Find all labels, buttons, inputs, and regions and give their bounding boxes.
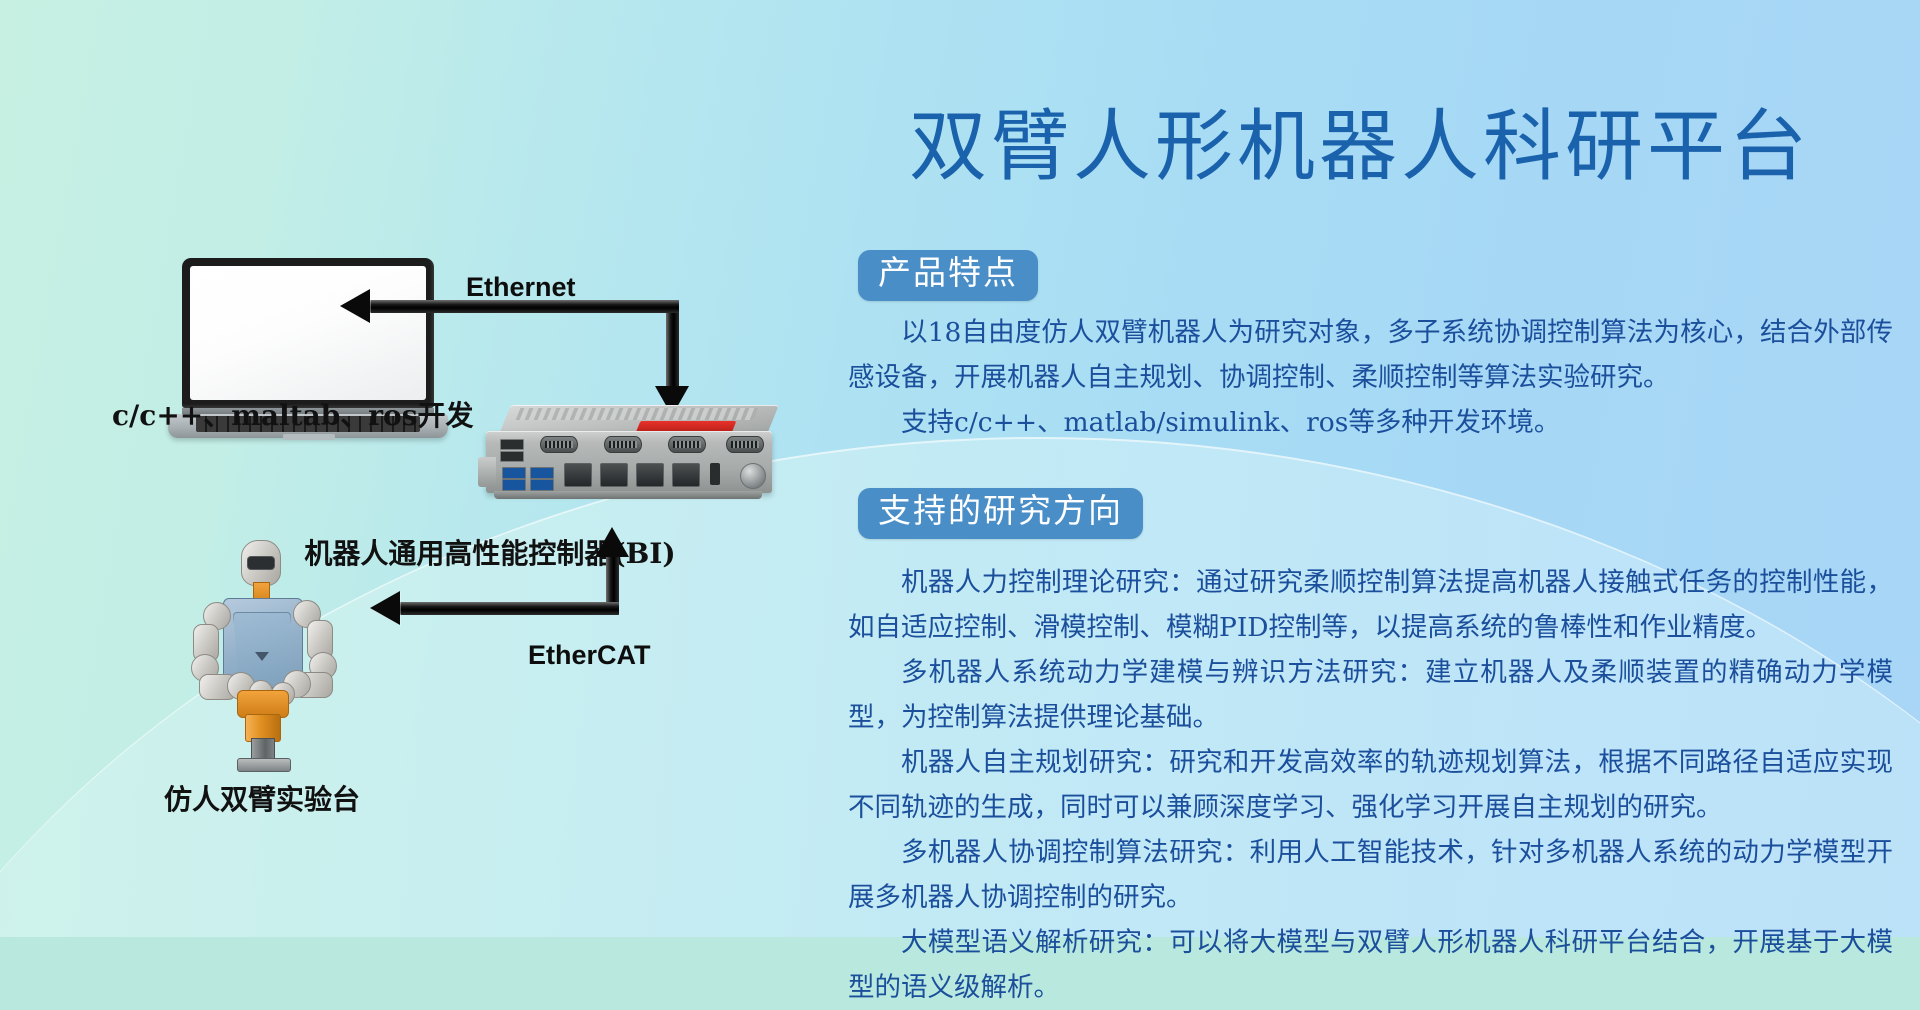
product-features-body: 以18自由度仿人双臂机器人为研究对象，多子系统协调控制算法为核心，结合外部传感设… — [848, 310, 1893, 445]
laptop-screen — [190, 266, 426, 400]
paragraph: 大模型语义解析研究：可以将大模型与双臂人形机器人科研平台结合，开展基于大模型的语… — [848, 920, 1893, 1010]
controller-ethernet-port — [564, 463, 592, 487]
paragraph: 多机器人协调控制算法研究：利用人工智能技术，针对多机器人系统的动力学模型开展多机… — [848, 830, 1893, 920]
section-badge-product-features: 产品特点 — [858, 250, 1038, 301]
controller-usb-port — [500, 439, 524, 450]
robot-visor — [247, 556, 275, 570]
controller-base — [494, 491, 762, 499]
laptop-trackpad — [283, 434, 335, 440]
system-diagram: c/c++、maltab、ros开发 Ethernet — [0, 0, 860, 937]
ethercat-label: EtherCAT — [528, 640, 651, 671]
controller-power-connector — [740, 463, 766, 489]
robot-label: 仿人双臂实验台 — [164, 778, 360, 818]
humanoid-robot-icon — [175, 540, 355, 770]
controller-usb-port — [500, 451, 524, 462]
section-badge-label: 产品特点 — [858, 250, 1038, 301]
controller-ethernet-port — [672, 463, 700, 487]
ethercat-arrow-horizontal — [400, 602, 619, 615]
content-panel: 双臂人形机器人科研平台 产品特点 以18自由度仿人双臂机器人为研究对象，多子系统… — [840, 0, 1920, 937]
controller-usb3-port — [530, 479, 554, 491]
ethercat-arrow-head-up — [595, 527, 629, 557]
ethernet-arrow-head — [340, 289, 370, 323]
controller-misc-port — [710, 463, 720, 485]
laptop-label: c/c++、maltab、ros开发 — [112, 394, 474, 434]
ethernet-arrow-vertical — [666, 300, 679, 395]
paragraph: 以18自由度仿人双臂机器人为研究对象，多子系统协调控制算法为核心，结合外部传感设… — [848, 310, 1893, 400]
paragraph: 机器人力控制理论研究：通过研究柔顺控制算法提高机器人接触式任务的控制性能，如自适… — [848, 560, 1893, 650]
section-badge-research-directions: 支持的研究方向 — [858, 488, 1143, 539]
paragraph: 支持c/c++、matlab/simulink、ros等多种开发环境。 — [848, 400, 1893, 445]
controller-serial-port — [726, 436, 764, 453]
ethernet-label: Ethernet — [466, 272, 576, 303]
controller-usb3-port — [502, 479, 526, 491]
robot-base-plate — [237, 758, 291, 772]
controller-usb3-port — [502, 467, 526, 479]
ethercat-arrow-head — [370, 591, 400, 625]
controller-usb3-port — [530, 467, 554, 479]
controller-mount-bracket — [478, 457, 496, 487]
page-title: 双臂人形机器人科研平台 — [850, 108, 1870, 186]
controller-serial-port — [668, 436, 706, 453]
laptop-lid — [182, 258, 434, 408]
paragraph: 机器人自主规划研究：研究和开发高效率的轨迹规划算法，根据不同路径自适应实现不同轨… — [848, 740, 1893, 830]
controller-ethernet-port — [636, 463, 664, 487]
section-badge-label: 支持的研究方向 — [858, 488, 1143, 539]
controller-serial-port — [540, 436, 578, 453]
industrial-pc-icon — [478, 405, 778, 510]
controller-heatsink-fins — [516, 408, 759, 420]
paragraph: 多机器人系统动力学建模与辨识方法研究：建立机器人及柔顺装置的精确动力学模型，为控… — [848, 650, 1893, 740]
controller-ethernet-port — [600, 463, 628, 487]
research-directions-body: 机器人力控制理论研究：通过研究柔顺控制算法提高机器人接触式任务的控制性能，如自适… — [848, 560, 1893, 1010]
controller-serial-port — [604, 436, 642, 453]
